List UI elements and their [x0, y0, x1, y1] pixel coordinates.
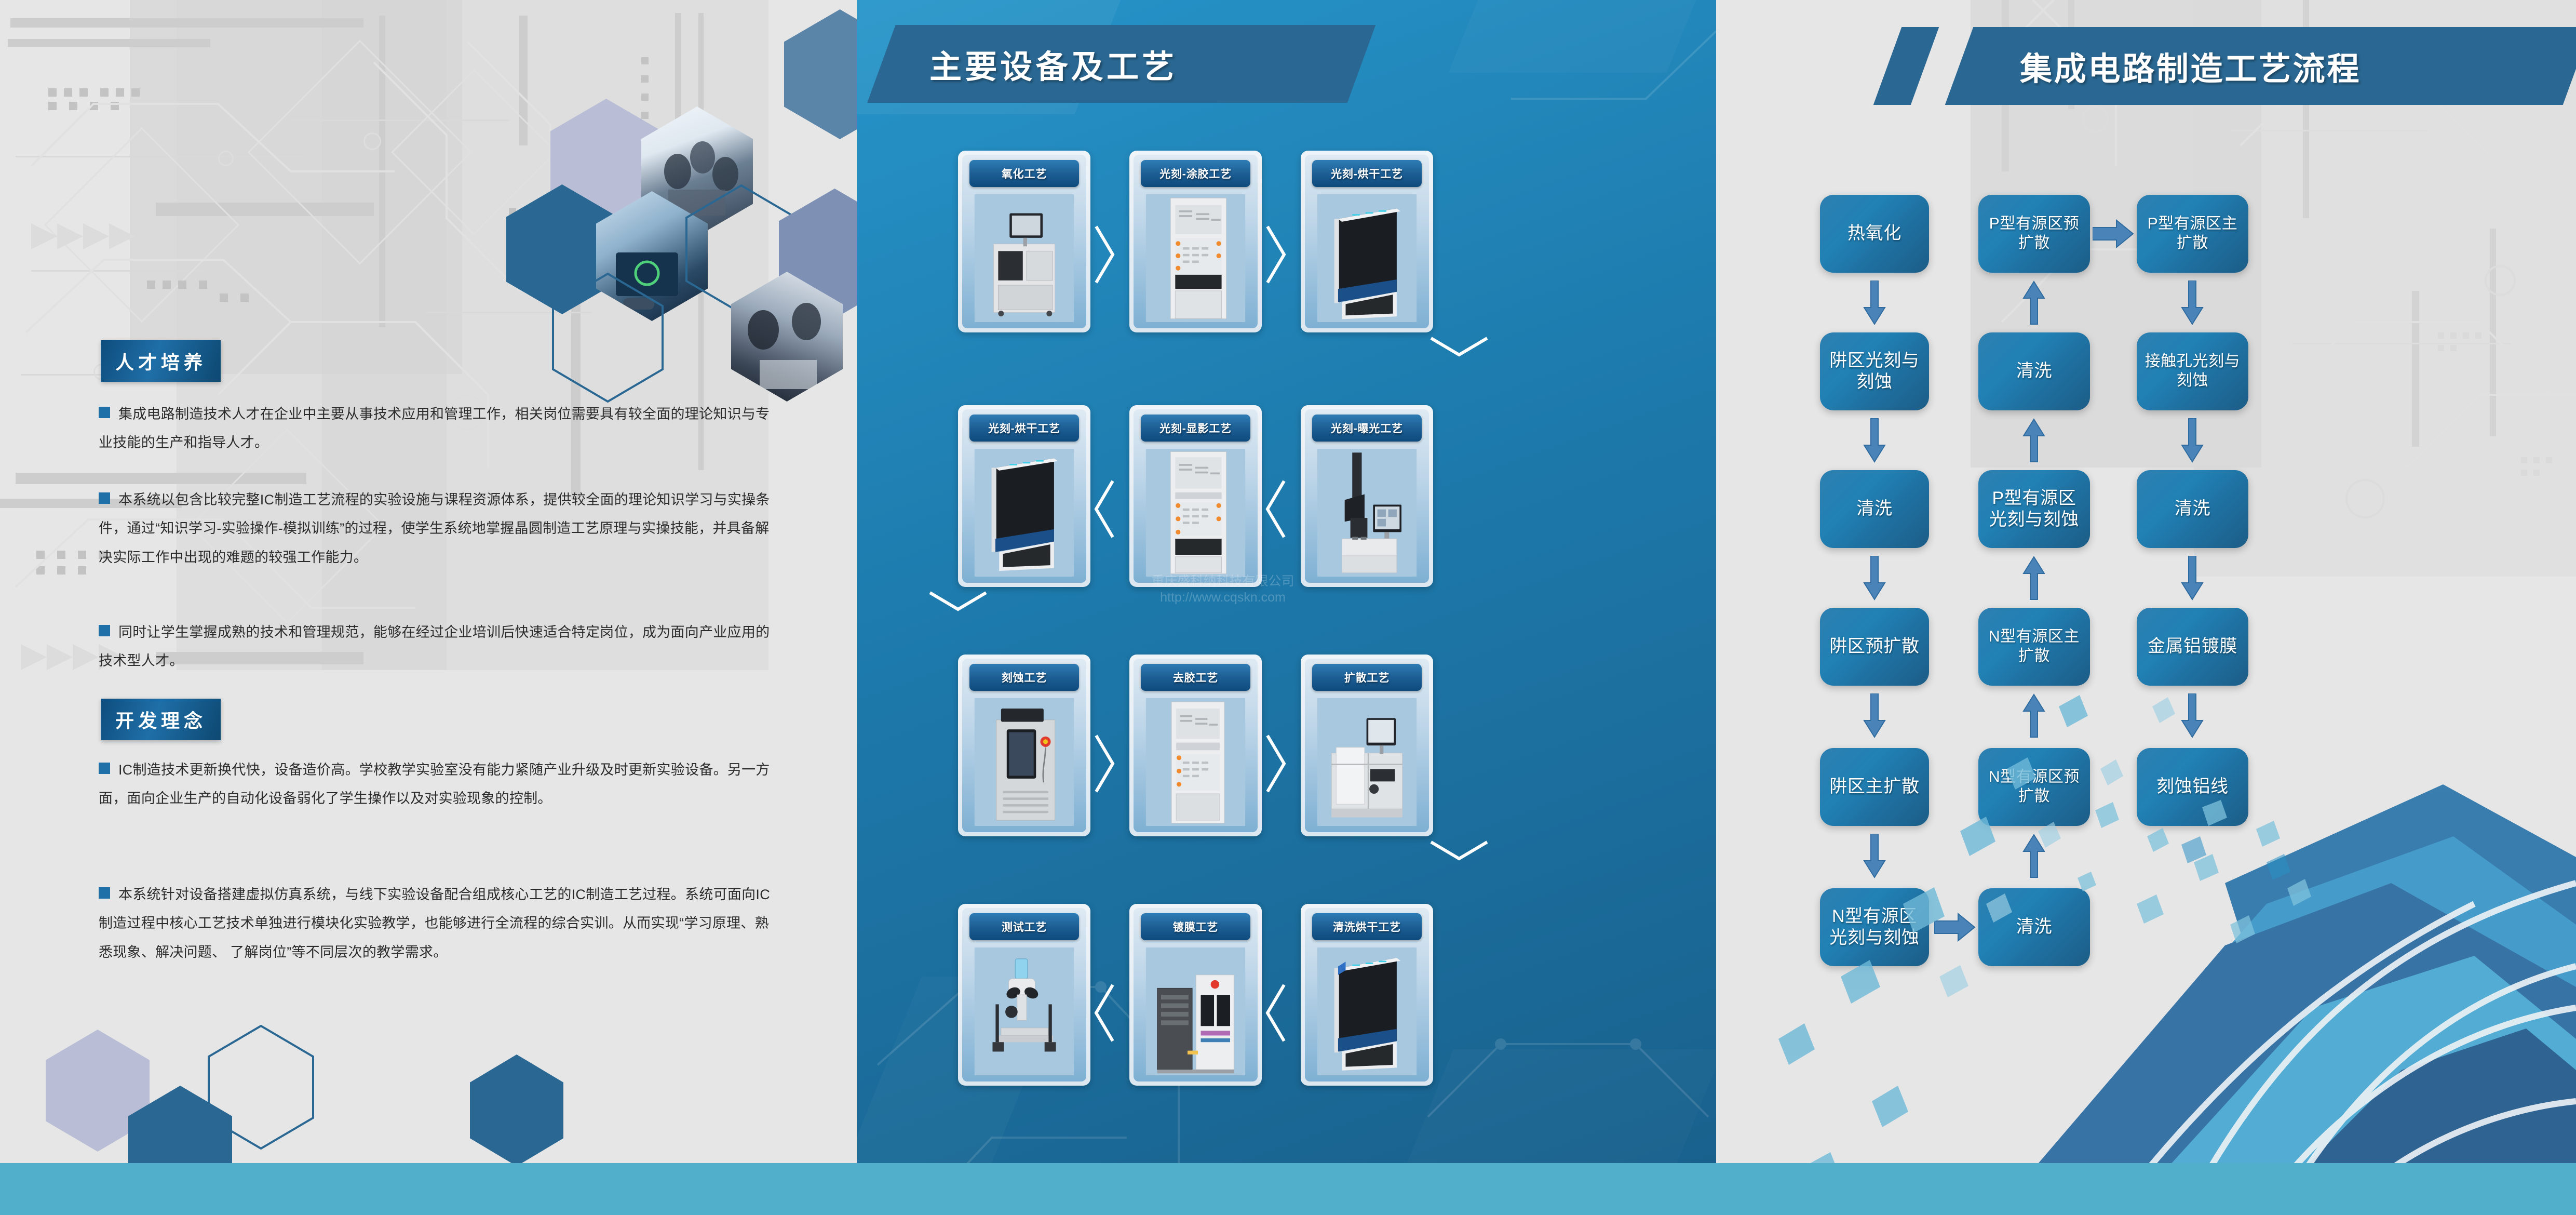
equipment-card-label: 测试工艺	[1002, 919, 1047, 934]
equipment-photo-photoresist-coating	[1145, 194, 1246, 322]
flow-box[interactable]: 清洗	[2137, 470, 2248, 548]
chevron-right-icon	[1093, 732, 1116, 795]
bullet-square-icon	[99, 492, 110, 504]
paragraph-talent-1: 集成电路制造技术人才在企业中主要从事技术应用和管理工作，相关岗位需要具有较全面的…	[99, 400, 774, 458]
paragraph-text: 本系统以包含比较完整IC制造工艺流程的实验设施与课程资源体系，提供较全面的理论知…	[99, 492, 770, 565]
section-tag-label: 人才培养	[115, 348, 207, 375]
flow-box[interactable]: P型有源区预扩散	[1978, 195, 2090, 273]
flow-box-label: P型有源区预扩散	[1984, 215, 2085, 252]
chevron-down-icon	[927, 590, 989, 612]
shard-decoration-upper	[2059, 800, 2350, 1018]
equipment-card-label: 光刻-烘干工艺	[1331, 166, 1403, 181]
middle-panel-title-banner: 主要设备及工艺	[867, 25, 1412, 103]
equipment-card-label: 光刻-烘干工艺	[988, 420, 1060, 436]
equipment-card-label: 扩散工艺	[1344, 670, 1390, 685]
paragraph-talent-2: 本系统以包含比较完整IC制造工艺流程的实验设施与课程资源体系，提供较全面的理论知…	[99, 486, 774, 572]
equipment-photo-clean-dry	[1316, 947, 1418, 1075]
flow-box-label: 阱区光刻与刻蚀	[1825, 350, 1924, 393]
equipment-photo-testing-microscope	[974, 947, 1075, 1075]
arrow-up-icon	[2022, 281, 2045, 325]
equipment-card-label: 光刻-显影工艺	[1159, 420, 1232, 436]
flow-box-label: 清洗	[1856, 498, 1892, 519]
equipment-card[interactable]: 去胶工艺	[1129, 655, 1262, 836]
chevron-down-icon	[1428, 839, 1490, 862]
chevron-left-icon	[1264, 982, 1287, 1044]
equipment-card[interactable]: 光刻-涂胶工艺	[1129, 151, 1262, 332]
equipment-card-label: 光刻-涂胶工艺	[1159, 166, 1232, 181]
equipment-card[interactable]: 光刻-烘干工艺	[958, 405, 1090, 587]
middle-panel: 主要设备及工艺 氧化工艺	[857, 0, 1716, 1215]
equipment-card-label: 刻蚀工艺	[1002, 670, 1047, 685]
arrow-down-icon	[1863, 418, 1886, 463]
equipment-card[interactable]: 氧化工艺	[958, 151, 1090, 332]
hexagon-outline-decor-2	[552, 273, 664, 403]
flow-box[interactable]: P型有源区光刻与刻蚀	[1978, 470, 2090, 548]
equipment-card[interactable]: 测试工艺	[958, 904, 1090, 1086]
bullet-square-icon	[99, 887, 110, 899]
equipment-photo-diffusion	[1316, 698, 1418, 826]
section-tag-talent-training: 人才培养	[101, 340, 221, 382]
equipment-photo-litho-bake-b	[974, 449, 1075, 577]
bottom-accent-bar	[0, 1163, 2576, 1215]
hexagon-decor-bottom-right	[470, 1054, 563, 1166]
equipment-photo-litho-bake-a	[1316, 194, 1418, 322]
bullet-square-icon	[99, 763, 110, 774]
right-panel: 集成电路制造工艺流程 热氧化 阱区光刻与刻蚀 清洗 阱区预扩散 阱区主扩散 N型…	[1716, 0, 2576, 1215]
arrow-up-icon	[2022, 556, 2045, 600]
flow-box-label: 清洗	[2175, 498, 2210, 519]
equipment-card-label: 去胶工艺	[1173, 670, 1218, 685]
equipment-photo-exposure	[1316, 449, 1418, 577]
arrow-down-icon	[2181, 418, 2204, 463]
equipment-card-label: 光刻-曝光工艺	[1331, 420, 1403, 436]
arrow-down-icon	[2181, 556, 2204, 600]
arrow-down-icon	[1863, 556, 1886, 600]
flow-box[interactable]: P型有源区主扩散	[2137, 195, 2248, 273]
section-tag-development-concept: 开发理念	[101, 699, 221, 740]
middle-panel-title: 主要设备及工艺	[929, 25, 1177, 103]
hexagon-decor-dark-top	[784, 9, 857, 139]
equipment-photo-coating-deposition	[1145, 947, 1246, 1075]
chevron-right-icon	[1264, 732, 1287, 795]
arrow-down-icon	[2181, 281, 2204, 325]
equipment-card[interactable]: 光刻-显影工艺	[1129, 405, 1262, 587]
flow-box-label: P型有源区主扩散	[2142, 215, 2243, 252]
chevron-right-icon	[1093, 223, 1116, 286]
flow-box[interactable]: 清洗	[1978, 332, 2090, 410]
flow-box[interactable]: 清洗	[1820, 470, 1929, 548]
equipment-photo-developing	[1145, 449, 1246, 577]
equipment-card[interactable]: 光刻-烘干工艺	[1301, 151, 1433, 332]
chevron-right-icon	[1264, 223, 1287, 286]
chevron-left-icon	[1264, 478, 1287, 540]
bullet-square-icon	[99, 625, 110, 636]
bullet-square-icon	[99, 407, 110, 418]
flow-box[interactable]: 接触孔光刻与刻蚀	[2137, 332, 2248, 410]
right-panel-title: 集成电路制造工艺流程	[2020, 27, 2361, 105]
paragraph-talent-3: 同时让学生掌握成熟的技术和管理规范，能够在经过企业培训后快速适合特定岗位，成为面…	[99, 618, 774, 676]
paragraph-text: 同时让学生掌握成熟的技术和管理规范，能够在经过企业培训后快速适合特定岗位，成为面…	[99, 624, 770, 669]
flow-box-label: 清洗	[2016, 361, 2052, 382]
flow-box-label: P型有源区光刻与刻蚀	[1984, 488, 2085, 531]
equipment-card[interactable]: 光刻-曝光工艺	[1301, 405, 1433, 587]
chevron-left-icon	[1093, 982, 1116, 1044]
chevron-left-icon	[1093, 478, 1116, 540]
paragraph-text: 本系统针对设备搭建虚拟仿真系统，与线下实验设备配合组成核心工艺的IC制造工艺过程…	[99, 887, 770, 960]
paragraph-text: IC制造技术更新换代快，设备造价高。学校教学实验室没有能力紧随产业升级及时更新实…	[99, 762, 770, 806]
paragraph-text: 集成电路制造技术人才在企业中主要从事技术应用和管理工作，相关岗位需要具有较全面的…	[99, 406, 770, 450]
arrow-up-icon	[2022, 418, 2045, 463]
right-panel-title-banner: 集成电路制造工艺流程	[1887, 27, 2573, 105]
flow-box-label: 接触孔光刻与刻蚀	[2142, 352, 2243, 390]
equipment-card-label: 清洗烘干工艺	[1333, 919, 1401, 934]
equipment-photo-resist-strip	[1145, 698, 1246, 826]
poster-canvas: 人才培养 集成电路制造技术人才在企业中主要从事技术应用和管理工作，相关岗位需要具…	[0, 0, 2576, 1215]
equipment-card[interactable]: 镀膜工艺	[1129, 904, 1262, 1086]
equipment-card[interactable]: 清洗烘干工艺	[1301, 904, 1433, 1086]
arrow-down-icon	[1863, 281, 1886, 325]
chevron-down-icon	[1428, 335, 1490, 358]
equipment-card-label: 氧化工艺	[1002, 166, 1047, 181]
equipment-card[interactable]: 刻蚀工艺	[958, 655, 1090, 836]
flow-box[interactable]: 热氧化	[1820, 195, 1929, 273]
equipment-photo-oxidation	[974, 194, 1075, 322]
hexagon-outline-decor-bottom	[208, 1025, 314, 1150]
equipment-card-label: 镀膜工艺	[1173, 919, 1218, 934]
left-panel: 人才培养 集成电路制造技术人才在企业中主要从事技术应用和管理工作，相关岗位需要具…	[0, 0, 857, 1215]
flow-box-label: 热氧化	[1847, 223, 1901, 244]
equipment-card[interactable]: 扩散工艺	[1301, 655, 1433, 836]
section-tag-label: 开发理念	[115, 706, 207, 733]
arrow-right-icon	[2093, 218, 2134, 249]
paragraph-concept-2: 本系统针对设备搭建虚拟仿真系统，与线下实验设备配合组成核心工艺的IC制造工艺过程…	[99, 880, 774, 967]
equipment-photo-etching	[974, 698, 1075, 826]
flow-box[interactable]: 阱区光刻与刻蚀	[1820, 332, 1929, 410]
paragraph-concept-1: IC制造技术更新换代快，设备造价高。学校教学实验室没有能力紧随产业升级及时更新实…	[99, 756, 774, 813]
